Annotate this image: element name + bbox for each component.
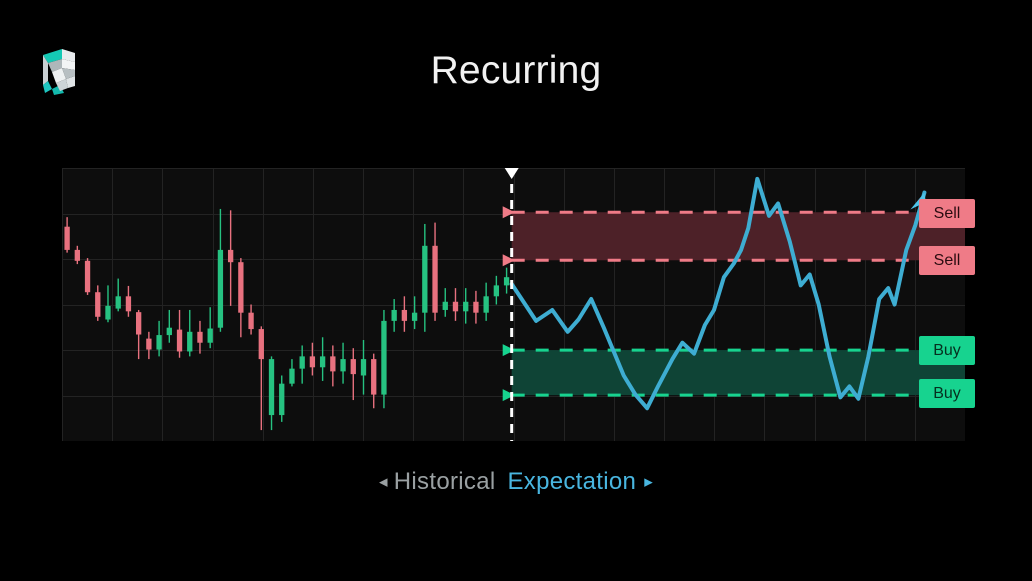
- page-title: Recurring: [0, 48, 1032, 95]
- candle: [279, 384, 284, 415]
- candle: [310, 356, 315, 367]
- candle: [473, 302, 478, 313]
- candle: [320, 356, 325, 367]
- candle: [218, 250, 223, 328]
- candle: [64, 227, 69, 250]
- candle: [85, 261, 90, 292]
- candle: [167, 328, 172, 335]
- candle: [146, 339, 151, 350]
- legend-arrow-right-icon[interactable]: ▸: [644, 472, 653, 491]
- signal-label-buy-upper[interactable]: Buy: [919, 336, 975, 365]
- candle: [259, 329, 264, 359]
- candle: [351, 359, 356, 374]
- candle: [504, 277, 509, 285]
- candle: [300, 356, 305, 368]
- candle: [248, 313, 253, 329]
- chart-background: [62, 168, 965, 441]
- signal-label-sell-lower[interactable]: Sell: [919, 246, 975, 275]
- candle: [136, 312, 141, 334]
- candle: [371, 359, 376, 394]
- candle: [126, 296, 131, 311]
- candle: [208, 329, 213, 343]
- candle: [95, 292, 100, 317]
- chart-legend: ◂HistoricalExpectation▸: [0, 468, 1032, 496]
- candle: [412, 313, 417, 321]
- candle: [75, 250, 80, 261]
- candle: [289, 369, 294, 384]
- candle: [402, 310, 407, 321]
- candle: [197, 332, 202, 343]
- candle: [432, 246, 437, 313]
- candle: [422, 246, 427, 313]
- candle: [340, 359, 345, 371]
- buy-zone-band: [512, 350, 965, 395]
- legend-label-expectation[interactable]: Expectation: [507, 468, 636, 495]
- candle: [105, 306, 110, 320]
- candle: [228, 250, 233, 262]
- candle: [453, 302, 458, 312]
- candle: [392, 310, 397, 321]
- legend-label-historical[interactable]: Historical: [394, 468, 496, 495]
- candle: [494, 285, 499, 296]
- candle: [187, 332, 192, 352]
- candle: [269, 359, 274, 415]
- candle: [483, 296, 488, 312]
- candle: [177, 330, 182, 352]
- candle: [156, 335, 161, 349]
- candle: [463, 302, 468, 312]
- legend-arrow-left-icon[interactable]: ◂: [379, 472, 388, 491]
- chart-canvas: [62, 168, 965, 441]
- candle: [238, 262, 243, 313]
- candle: [443, 302, 448, 310]
- candle: [330, 356, 335, 371]
- signal-label-buy-lower[interactable]: Buy: [919, 379, 975, 408]
- candle: [381, 321, 386, 395]
- signal-label-sell-upper[interactable]: Sell: [919, 199, 975, 228]
- candle: [116, 296, 121, 308]
- price-chart: [62, 168, 965, 441]
- candle: [361, 359, 366, 375]
